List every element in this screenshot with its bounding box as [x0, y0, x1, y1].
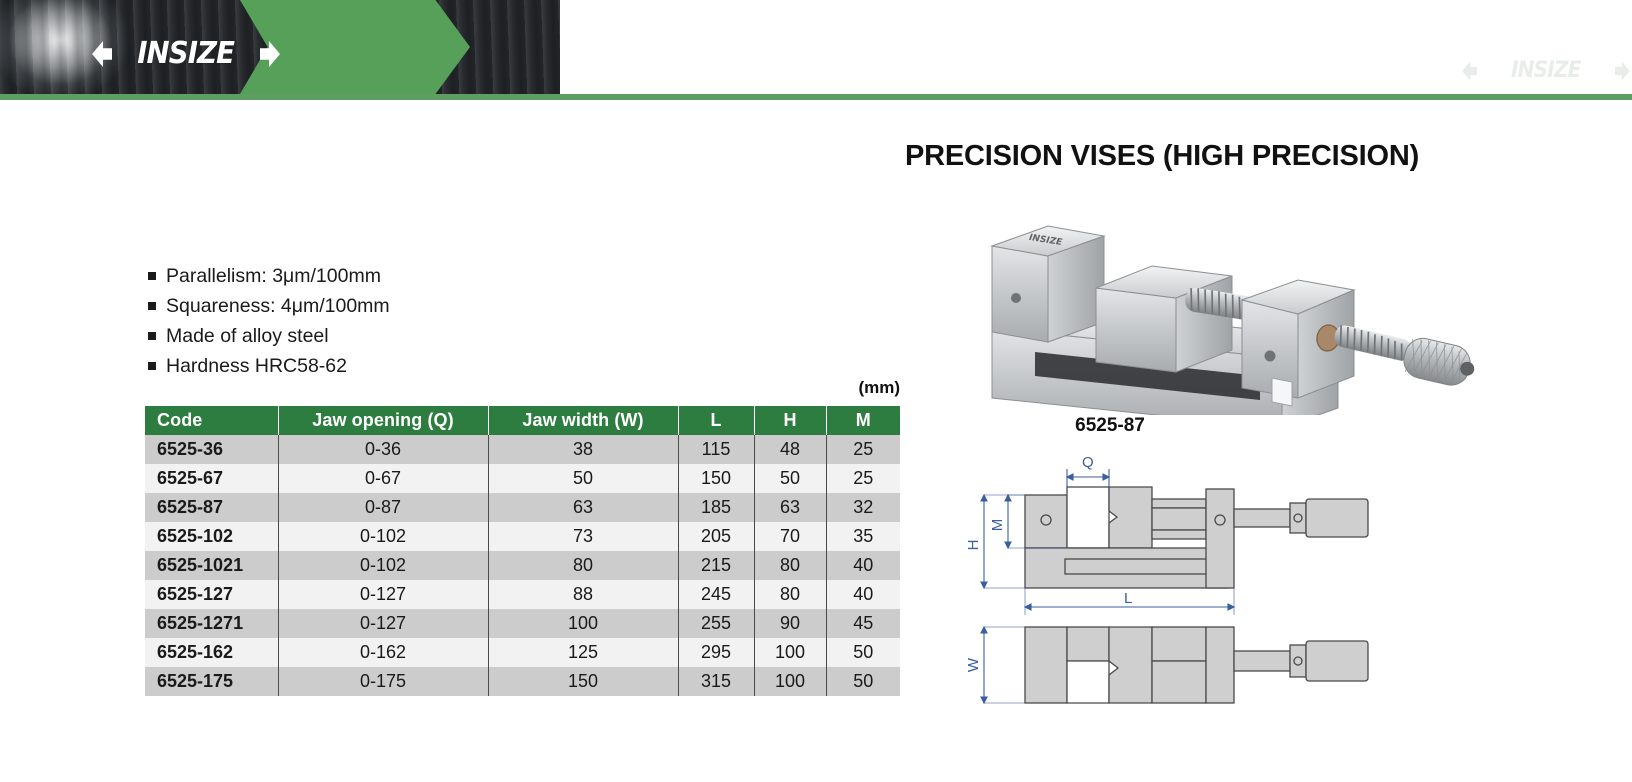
- spec-text: Squareness: 4μm/100mm: [166, 292, 390, 321]
- cell-value: 80: [754, 551, 826, 580]
- cell-value: 0-175: [278, 667, 488, 696]
- cell-value: 73: [488, 522, 678, 551]
- watermark-right-arrow-icon: [1615, 62, 1630, 81]
- dimension-label-m: M: [989, 519, 1006, 532]
- cell-value: 45: [826, 609, 900, 638]
- cell-value: 50: [488, 464, 678, 493]
- cell-value: 295: [678, 638, 754, 667]
- cell-value: 32: [826, 493, 900, 522]
- square-bullet-icon: [148, 302, 156, 310]
- table-row: 6525-10210-102802158040: [145, 551, 900, 580]
- list-item: Hardness HRC58-62: [148, 352, 628, 381]
- cell-value: 100: [754, 638, 826, 667]
- dimension-label-w: W: [965, 657, 982, 672]
- spec-text: Parallelism: 3μm/100mm: [166, 262, 381, 291]
- cell-value: 25: [826, 435, 900, 464]
- table-row: 6525-1270-127882458040: [145, 580, 900, 609]
- technical-drawing-svg: Q M H L W: [940, 455, 1560, 715]
- insize-logo-text: INSIZE: [138, 39, 235, 69]
- cell-value: 100: [488, 609, 678, 638]
- cell-value: 48: [754, 435, 826, 464]
- table-row: 6525-12710-1271002559045: [145, 609, 900, 638]
- spec-text: Hardness HRC58-62: [166, 352, 347, 381]
- table-row: 6525-1620-16212529510050: [145, 638, 900, 667]
- cell-value: 0-87: [278, 493, 488, 522]
- dimension-label-q: Q: [1082, 455, 1094, 471]
- cell-value: 315: [678, 667, 754, 696]
- cell-code: 6525-87: [145, 493, 278, 522]
- table-row: 6525-670-67501505025: [145, 464, 900, 493]
- cell-value: 90: [754, 609, 826, 638]
- cell-value: 63: [488, 493, 678, 522]
- cell-value: 115: [678, 435, 754, 464]
- cell-value: 0-67: [278, 464, 488, 493]
- insize-logo: INSIZE: [96, 36, 276, 72]
- cell-value: 63: [754, 493, 826, 522]
- cell-value: 0-102: [278, 522, 488, 551]
- cell-value: 125: [488, 638, 678, 667]
- table-row: 6525-870-87631856332: [145, 493, 900, 522]
- square-bullet-icon: [148, 332, 156, 340]
- product-photo: INSIZE: [930, 180, 1490, 415]
- table-row: 6525-1750-17515031510050: [145, 667, 900, 696]
- column-header-code: Code: [145, 406, 278, 435]
- list-item: Squareness: 4μm/100mm: [148, 292, 628, 321]
- cell-value: 35: [826, 522, 900, 551]
- cell-value: 0-102: [278, 551, 488, 580]
- specification-table-container: (mm) Code Jaw opening (Q) Jaw width (W) …: [145, 406, 900, 696]
- column-header-jaw-width: Jaw width (W): [488, 406, 678, 435]
- product-photo-svg: INSIZE: [930, 180, 1490, 415]
- cell-value: 255: [678, 609, 754, 638]
- column-header-h: H: [754, 406, 826, 435]
- column-header-jaw-opening: Jaw opening (Q): [278, 406, 488, 435]
- page-title: PRECISION VISES (HIGH PRECISION): [905, 140, 1605, 173]
- cell-value: 0-127: [278, 580, 488, 609]
- photo-caption: 6525-87: [930, 415, 1290, 437]
- spec-text: Made of alloy steel: [166, 322, 329, 351]
- dimension-label-l: L: [1124, 590, 1132, 607]
- cell-code: 6525-1271: [145, 609, 278, 638]
- cell-value: 50: [826, 667, 900, 696]
- cell-value: 25: [826, 464, 900, 493]
- insize-watermark-text: INSIZE: [1511, 60, 1581, 82]
- table-header-row: Code Jaw opening (Q) Jaw width (W) L H M: [145, 406, 900, 435]
- cell-value: 185: [678, 493, 754, 522]
- technical-drawing: Q M H L W: [940, 455, 1560, 715]
- square-bullet-icon: [148, 272, 156, 280]
- cell-value: 100: [754, 667, 826, 696]
- table-row: 6525-360-36381154825: [145, 435, 900, 464]
- cell-value: 0-127: [278, 609, 488, 638]
- header-green-rule: [0, 94, 1632, 100]
- cell-code: 6525-102: [145, 522, 278, 551]
- square-bullet-icon: [148, 362, 156, 370]
- cell-code: 6525-67: [145, 464, 278, 493]
- column-header-m: M: [826, 406, 900, 435]
- list-item: Parallelism: 3μm/100mm: [148, 262, 628, 291]
- cell-code: 6525-127: [145, 580, 278, 609]
- cell-value: 0-36: [278, 435, 488, 464]
- dimension-label-h: H: [965, 540, 982, 551]
- cell-value: 80: [488, 551, 678, 580]
- unit-label: (mm): [145, 378, 900, 398]
- cell-value: 38: [488, 435, 678, 464]
- cell-value: 88: [488, 580, 678, 609]
- table-body: 6525-360-363811548256525-670-67501505025…: [145, 435, 900, 696]
- table-row: 6525-1020-102732057035: [145, 522, 900, 551]
- column-header-l: L: [678, 406, 754, 435]
- cell-value: 40: [826, 551, 900, 580]
- list-item: Made of alloy steel: [148, 322, 628, 351]
- cell-value: 205: [678, 522, 754, 551]
- specification-list: Parallelism: 3μm/100mm Squareness: 4μm/1…: [148, 262, 628, 381]
- cell-value: 150: [488, 667, 678, 696]
- cell-value: 215: [678, 551, 754, 580]
- cell-code: 6525-1021: [145, 551, 278, 580]
- page-header: INSIZE INSIZE: [0, 0, 1632, 100]
- cell-code: 6525-162: [145, 638, 278, 667]
- cell-value: 50: [754, 464, 826, 493]
- specification-table: Code Jaw opening (Q) Jaw width (W) L H M…: [145, 406, 900, 696]
- cell-value: 70: [754, 522, 826, 551]
- insize-watermark-logo: INSIZE: [1466, 56, 1626, 86]
- cell-code: 6525-175: [145, 667, 278, 696]
- watermark-left-arrow-icon: [1462, 62, 1477, 81]
- cell-value: 0-162: [278, 638, 488, 667]
- cell-code: 6525-36: [145, 435, 278, 464]
- cell-value: 50: [826, 638, 900, 667]
- cell-value: 150: [678, 464, 754, 493]
- cell-value: 40: [826, 580, 900, 609]
- cell-value: 245: [678, 580, 754, 609]
- cell-value: 80: [754, 580, 826, 609]
